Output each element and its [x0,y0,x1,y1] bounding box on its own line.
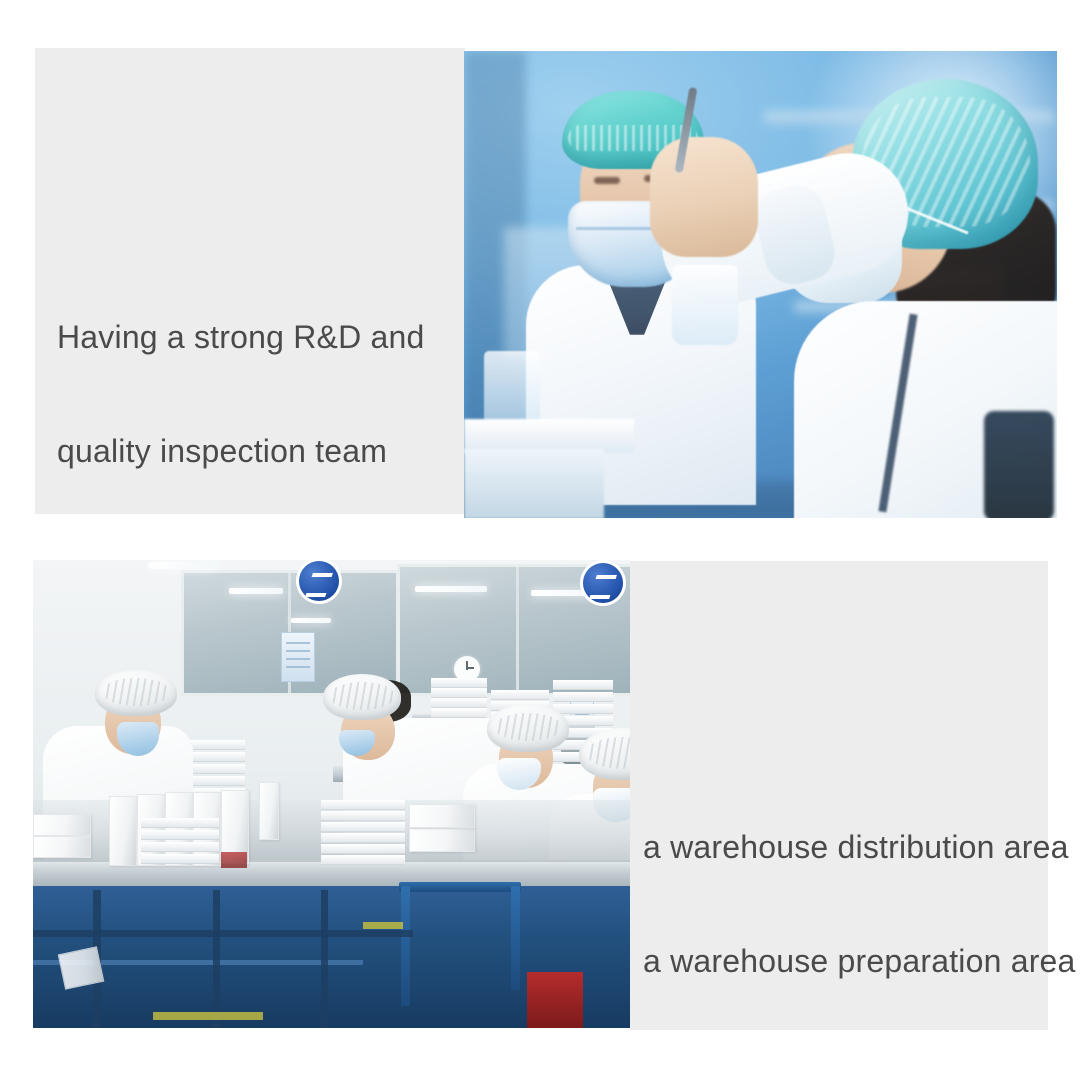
carton-flat-1 [409,828,475,852]
carton-flat-2 [409,804,475,828]
table-leg-front [401,886,410,1006]
lab-bench-front [464,449,604,518]
lab-beaker-held [672,265,738,345]
carton-layer [141,854,219,864]
carton-layer [141,818,219,828]
carton-layer [321,822,405,832]
carton-layer [141,830,219,840]
top-caption-line-1: Having a strong R&D and [57,318,457,356]
carton-stack-front-mid [321,800,405,866]
top-caption: Having a strong R&D and quality inspecti… [57,242,457,546]
lab-worker-left-eye-left [594,177,620,184]
floor-marking-tape-2 [363,922,403,929]
window-mullion [516,567,519,693]
carton-flat-4 [33,836,91,858]
ceiling-light-2 [229,588,283,594]
bottom-caption-line-2: a warehouse preparation area [643,942,1043,980]
bottom-caption-line-1: a warehouse distribution area [643,828,1043,866]
carton-flat-3 [33,814,91,836]
poster-canvas: Having a strong R&D and quality inspecti… [0,0,1080,1080]
carton-bottle [259,782,279,840]
carton-layer [321,811,405,821]
carton-front-1 [109,796,137,866]
bottom-caption: a warehouse distribution area a warehous… [643,752,1043,1056]
carton-layer [321,833,405,843]
carton-layer [141,842,219,852]
under-table-rail-1 [33,930,413,937]
notice-board-1 [281,632,315,682]
floor-marking-tape [153,1012,263,1020]
ceiling-light-3 [415,586,487,592]
hair-net [323,674,401,720]
lab-bench-top [464,419,634,453]
red-equipment-accent [527,972,583,1028]
lab-rd-quality-inspection-photo [464,51,1057,518]
under-table-leg-2 [213,890,220,1028]
under-table-leg-3 [321,890,328,1028]
notice-line [286,666,310,668]
table-frame-rail [399,882,521,892]
carton-stack-front-left [141,818,219,866]
company-logo-sign [299,561,339,601]
lab-stool [984,411,1054,518]
company-logo-sign-2 [583,563,623,603]
top-caption-line-2: quality inspection team [57,432,457,470]
lab-gloved-hand [650,137,758,257]
hair-net [95,670,177,716]
notice-line [286,658,310,660]
hair-net [579,728,630,780]
warehouse-packing-line-photo [33,560,630,1028]
ceiling-light-1 [149,562,219,569]
carton-layer [321,800,405,810]
ceiling-light-5 [291,618,331,623]
notice-line [286,650,310,652]
carton-layer [321,844,405,854]
lab-beaker-on-bench [484,351,540,427]
carton-layer [321,855,405,865]
table-leg-back [511,886,520,990]
notice-line [286,642,310,644]
red-equipment-accent-2 [221,852,247,868]
